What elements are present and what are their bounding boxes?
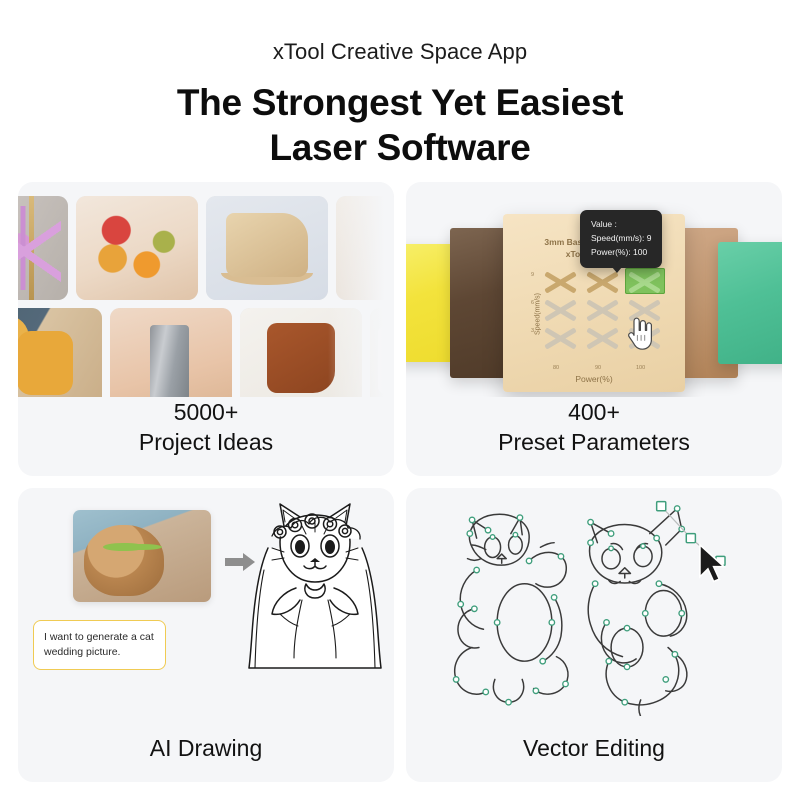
vector-editing-label: Vector Editing [406,733,782,764]
project-thumbnail-grid [18,196,394,397]
y-tick-0: 9 [531,272,534,278]
y-tick-1: 6 [531,300,534,306]
arrow-cursor-icon [700,545,724,581]
preset-parameters-count: 400+ [406,397,782,428]
y-tick-2: 3 [531,328,534,334]
x-axis-label: Power(%) [519,374,669,384]
bezier-handle [657,502,725,566]
thumbnail-engraved-metal-card[interactable] [110,308,232,397]
generated-cat-bride-line-art [240,496,390,674]
project-ideas-count: 5000+ [18,397,394,428]
cat-vector-outlines [406,488,782,716]
feature-card-preset-parameters[interactable]: 3mm Basswoodplywood xTool M1-10W Speed(m… [406,182,782,476]
test-cell-r2c2[interactable] [583,296,623,322]
feature-card-project-ideas[interactable]: 5000+ Project Ideas [18,182,394,476]
gallery-row-2 [18,308,394,397]
thumbnail-boho-wood-keychains[interactable] [18,308,102,397]
card-caption-preset-parameters: 400+ Preset Parameters [406,397,782,476]
project-gallery [18,182,394,397]
parameter-value-tooltip: Value : Speed(mm/s): 9 Power(%): 100 [580,210,662,268]
card-caption-vector-editing: Vector Editing [406,733,782,782]
app-name-eyebrow: xTool Creative Space App [0,38,800,66]
preset-parameters-label: Preset Parameters [406,427,782,458]
card-caption-ai-drawing: AI Drawing [18,733,394,782]
card-caption-project-ideas: 5000+ Project Ideas [18,397,394,476]
tooltip-power: Power(%): 100 [591,246,651,260]
thumbnail-engraved-macarons[interactable] [76,196,198,300]
headline-line-1: The Strongest Yet Easiest [177,82,623,123]
test-cell-r2c1[interactable] [541,296,581,322]
thumbnail-wooden-rocking-horse[interactable] [206,196,328,300]
ai-prompt-box[interactable]: I want to generate a cat wedding picture… [33,620,166,670]
thumbnail-misc-craft-item[interactable] [370,308,394,397]
test-cell-r1c3-selected[interactable] [625,268,665,294]
ai-drawing-illustration: I want to generate a cat wedding picture… [18,488,394,733]
tooltip-title: Value : [591,218,651,232]
material-test-illustration: 3mm Basswoodplywood xTool M1-10W Speed(m… [406,182,782,397]
material-swatch-stack: 3mm Basswoodplywood xTool M1-10W Speed(m… [406,204,782,397]
page-header: xTool Creative Space App The Strongest Y… [0,0,800,171]
thumbnail-engraved-wood-bowl[interactable] [336,196,394,300]
test-cell-r3c2[interactable] [583,324,623,350]
project-ideas-label: Project Ideas [18,427,394,458]
headline-line-2: Laser Software [269,127,530,168]
source-cat-photo [73,510,211,602]
feature-card-grid: 5000+ Project Ideas 3mm Basswoodplywood … [18,182,782,782]
green-acrylic-swatch[interactable] [718,242,782,364]
thumbnail-engraved-leather-pouch[interactable] [240,308,362,397]
thumbnail-acrylic-snowflake-ornament[interactable] [18,196,68,300]
gallery-row-1 [18,196,394,300]
feature-card-ai-drawing[interactable]: I want to generate a cat wedding picture… [18,488,394,782]
tooltip-speed: Speed(mm/s): 9 [591,232,651,246]
feature-card-vector-editing[interactable]: Vector Editing [406,488,782,782]
x-tick-1: 90 [595,365,601,371]
test-cell-r1c1[interactable] [541,268,581,294]
hand-cursor-icon [625,317,655,351]
x-tick-2: 100 [636,365,645,371]
vector-editing-illustration [406,488,782,733]
page-title: The Strongest Yet Easiest Laser Software [0,80,800,172]
test-cell-r3c1[interactable] [541,324,581,350]
x-tick-0: 80 [553,365,559,371]
ai-drawing-label: AI Drawing [18,733,394,764]
